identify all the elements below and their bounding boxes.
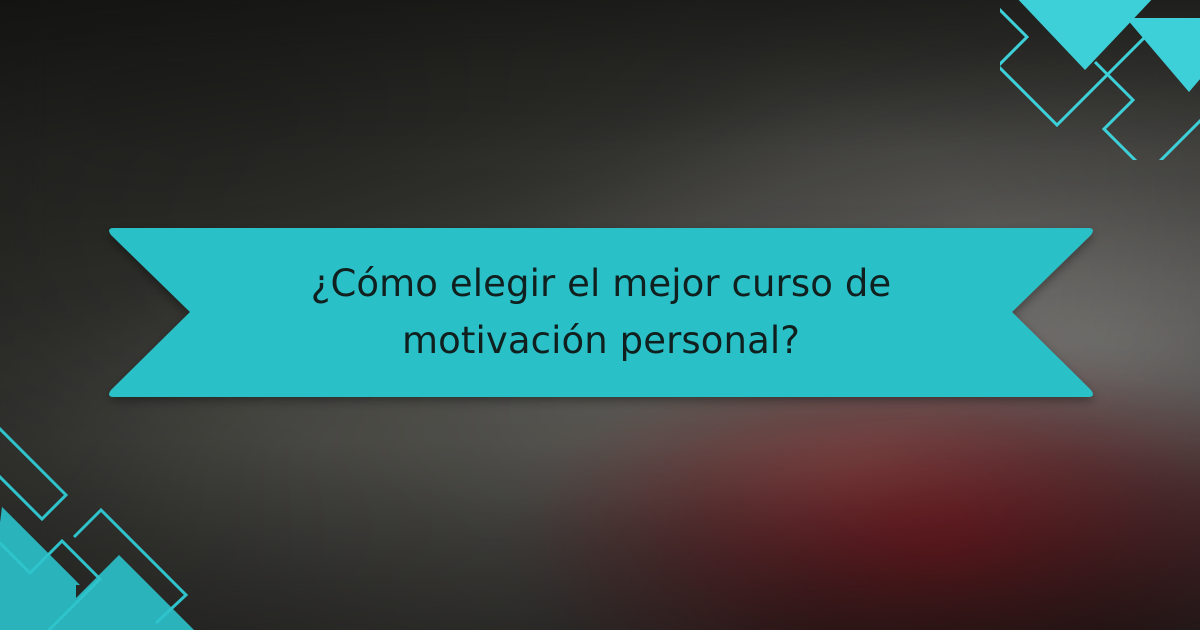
page-title: ¿Cómo elegir el mejor curso de motivació… [231,256,971,368]
ribbon-banner: ¿Cómo elegir el mejor curso de motivació… [106,226,1096,399]
share-card: ¿Cómo elegir el mejor curso de motivació… [0,0,1200,630]
banner-text-block: ¿Cómo elegir el mejor curso de motivació… [106,226,1096,399]
